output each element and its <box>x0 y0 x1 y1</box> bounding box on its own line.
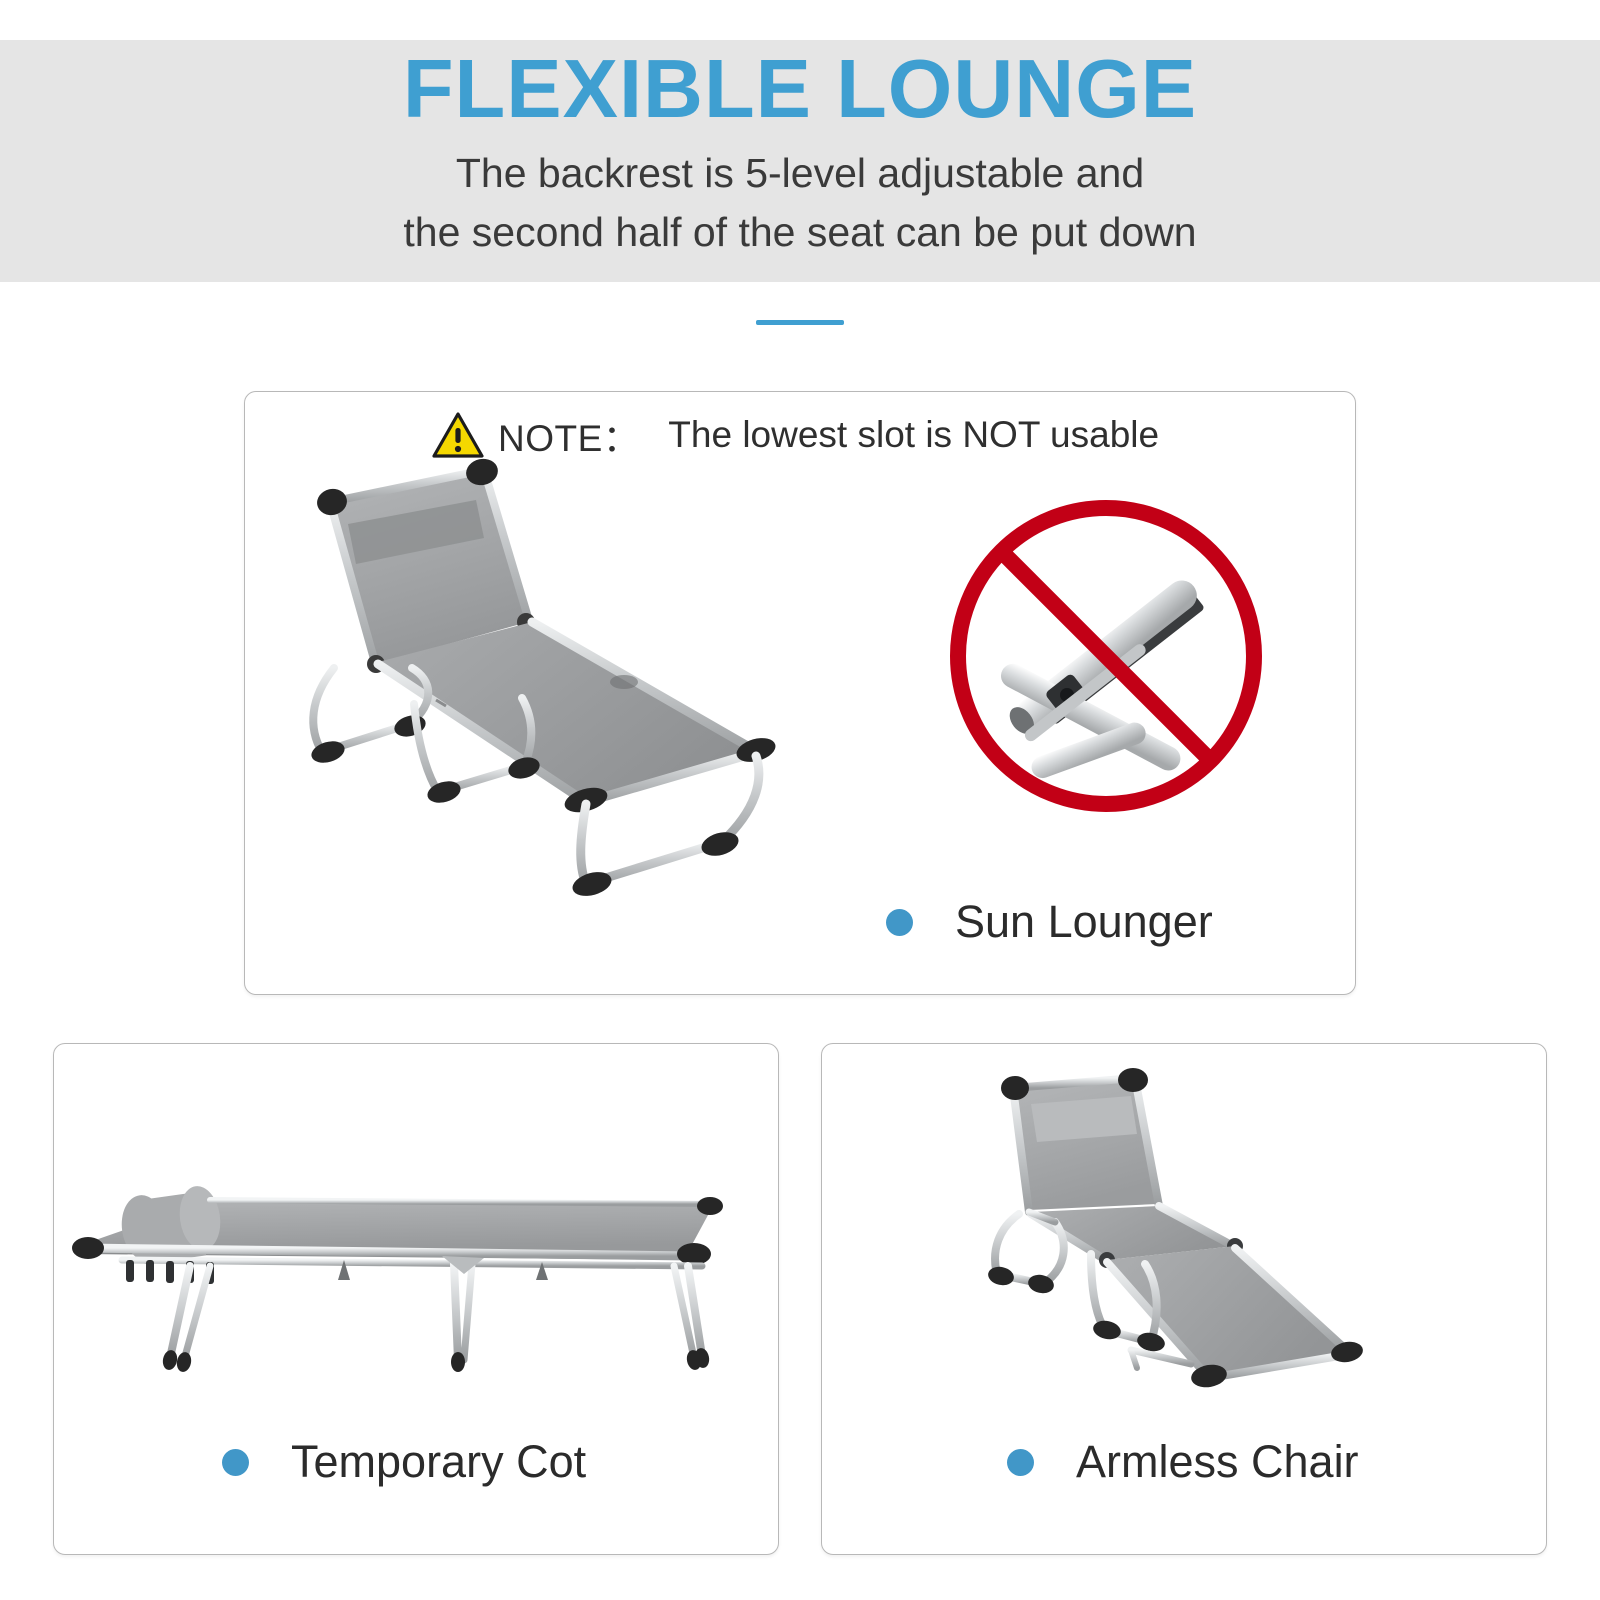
prohibition-illustration <box>938 488 1274 824</box>
subtitle-line-2: the second half of the seat can be put d… <box>403 203 1196 262</box>
sun-lounger-illustration <box>286 432 798 902</box>
temporary-cot-illustration <box>62 1148 762 1372</box>
product-label-sun-lounger: Sun Lounger <box>886 896 1213 948</box>
header-band: FLEXIBLE LOUNGE The backrest is 5-level … <box>0 40 1600 282</box>
note-text: The lowest slot is NOT usable <box>654 414 1159 456</box>
product-name: Temporary Cot <box>291 1436 586 1488</box>
note-row: NOTE： The lowest slot is NOT usable <box>432 408 1159 462</box>
page-subtitle: The backrest is 5-level adjustable and t… <box>403 132 1196 261</box>
product-label-temporary-cot: Temporary Cot <box>222 1436 586 1488</box>
product-name: Sun Lounger <box>955 896 1213 948</box>
armless-chair-illustration <box>945 1042 1363 1394</box>
product-name: Armless Chair <box>1076 1436 1359 1488</box>
section-divider <box>756 320 844 325</box>
bullet-dot-icon <box>886 909 913 936</box>
warning-triangle-icon <box>432 411 484 459</box>
page-title: FLEXIBLE LOUNGE <box>403 46 1197 132</box>
product-label-armless-chair: Armless Chair <box>1007 1436 1359 1488</box>
section-divider-wrap <box>0 320 1600 325</box>
bullet-dot-icon <box>222 1449 249 1476</box>
subtitle-line-1: The backrest is 5-level adjustable and <box>403 144 1196 203</box>
bullet-dot-icon <box>1007 1449 1034 1476</box>
note-label: NOTE： <box>498 408 640 462</box>
